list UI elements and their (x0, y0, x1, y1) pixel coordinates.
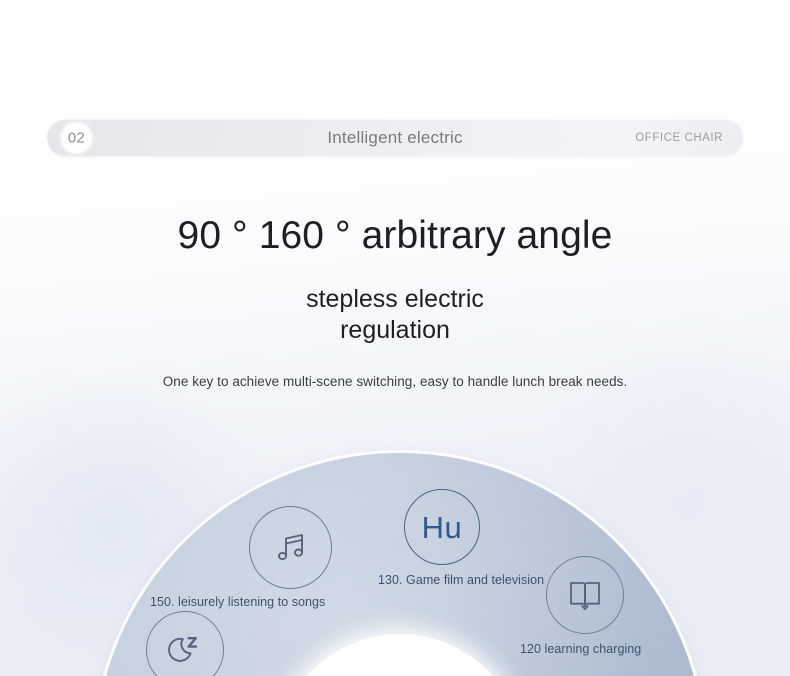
page-description: One key to achieve multi-scene switching… (0, 374, 790, 389)
feature-node-music[interactable] (249, 506, 332, 589)
sleep-moon-icon (166, 631, 204, 669)
hu-text-icon: Hu (422, 512, 463, 543)
page-subtitle: stepless electric regulation (0, 284, 790, 345)
feature-node-hu[interactable]: Hu (404, 489, 480, 565)
section-header-bar: 02 Intelligent electric OFFICE CHAIR (47, 119, 743, 156)
open-book-icon (566, 576, 604, 614)
feature-label-game: 130. Game film and television (378, 573, 544, 587)
music-note-icon (271, 528, 311, 568)
background-highlight-top (0, 0, 790, 220)
page-title: 90 ° 160 ° arbitrary angle (0, 215, 790, 258)
page-subtitle-line-1: stepless electric (0, 284, 790, 315)
feature-label-learning: 120 learning charging (520, 642, 641, 656)
page-subtitle-line-2: regulation (0, 315, 790, 346)
feature-label-music: 150. leisurely listening to songs (150, 595, 325, 609)
slide-canvas: 02 Intelligent electric OFFICE CHAIR 90 … (0, 0, 790, 676)
section-category-label: OFFICE CHAIR (635, 132, 723, 144)
feature-node-book[interactable] (546, 556, 624, 634)
